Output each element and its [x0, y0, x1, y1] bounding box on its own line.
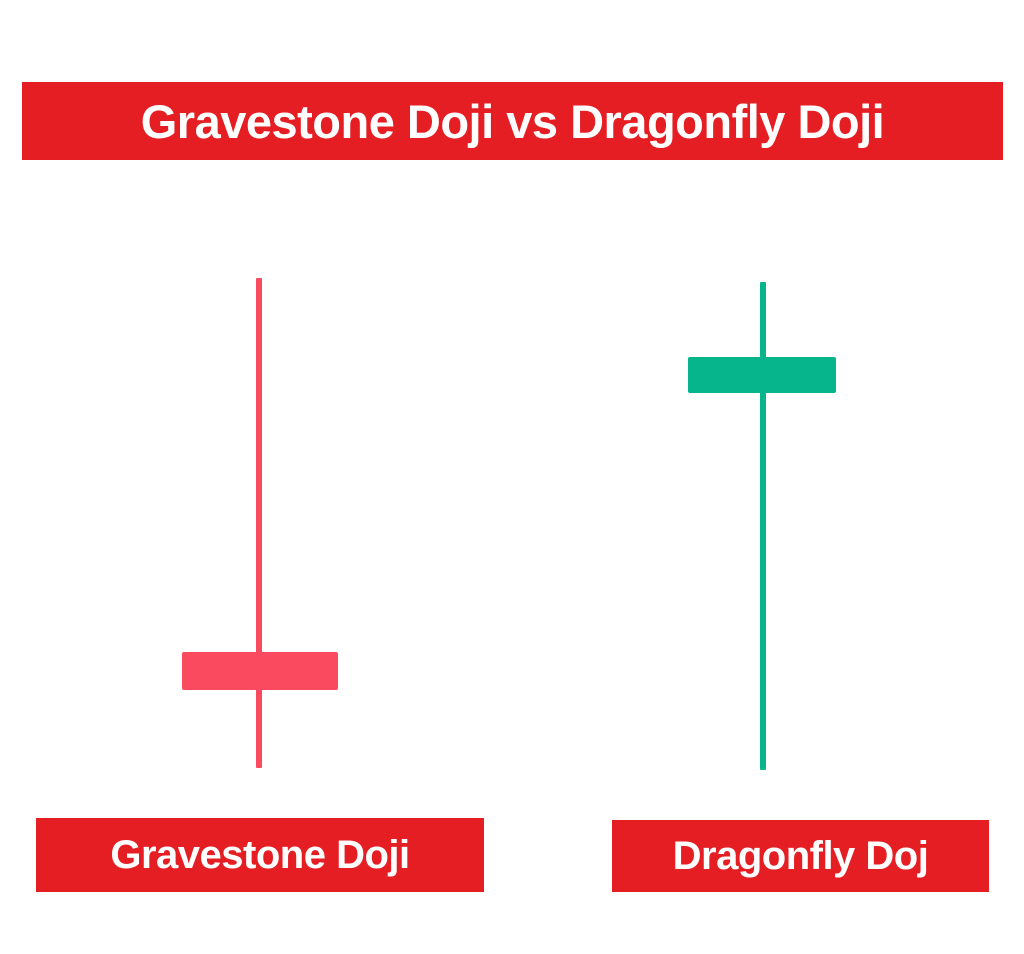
candle-gravestone-doji: [0, 160, 512, 810]
candle-body-gravestone: [182, 652, 338, 690]
page-title: Gravestone Doji vs Dragonfly Doji: [141, 98, 885, 145]
candle-wick-dragonfly: [760, 282, 766, 770]
caption-label-dragonfly: Dragonfly Doj: [673, 836, 929, 876]
caption-banner-gravestone: Gravestone Doji: [36, 818, 484, 892]
title-banner: Gravestone Doji vs Dragonfly Doji: [22, 82, 1003, 160]
caption-banner-dragonfly: Dragonfly Doj: [612, 820, 989, 892]
candle-body-dragonfly: [688, 357, 836, 393]
candlestick-chart: [0, 160, 1024, 810]
candle-dragonfly-doji: [512, 160, 1024, 810]
caption-label-gravestone: Gravestone Doji: [110, 835, 409, 875]
infographic-canvas: Gravestone Doji vs Dragonfly Doji Graves…: [0, 0, 1024, 954]
candle-wick-gravestone: [256, 278, 262, 768]
